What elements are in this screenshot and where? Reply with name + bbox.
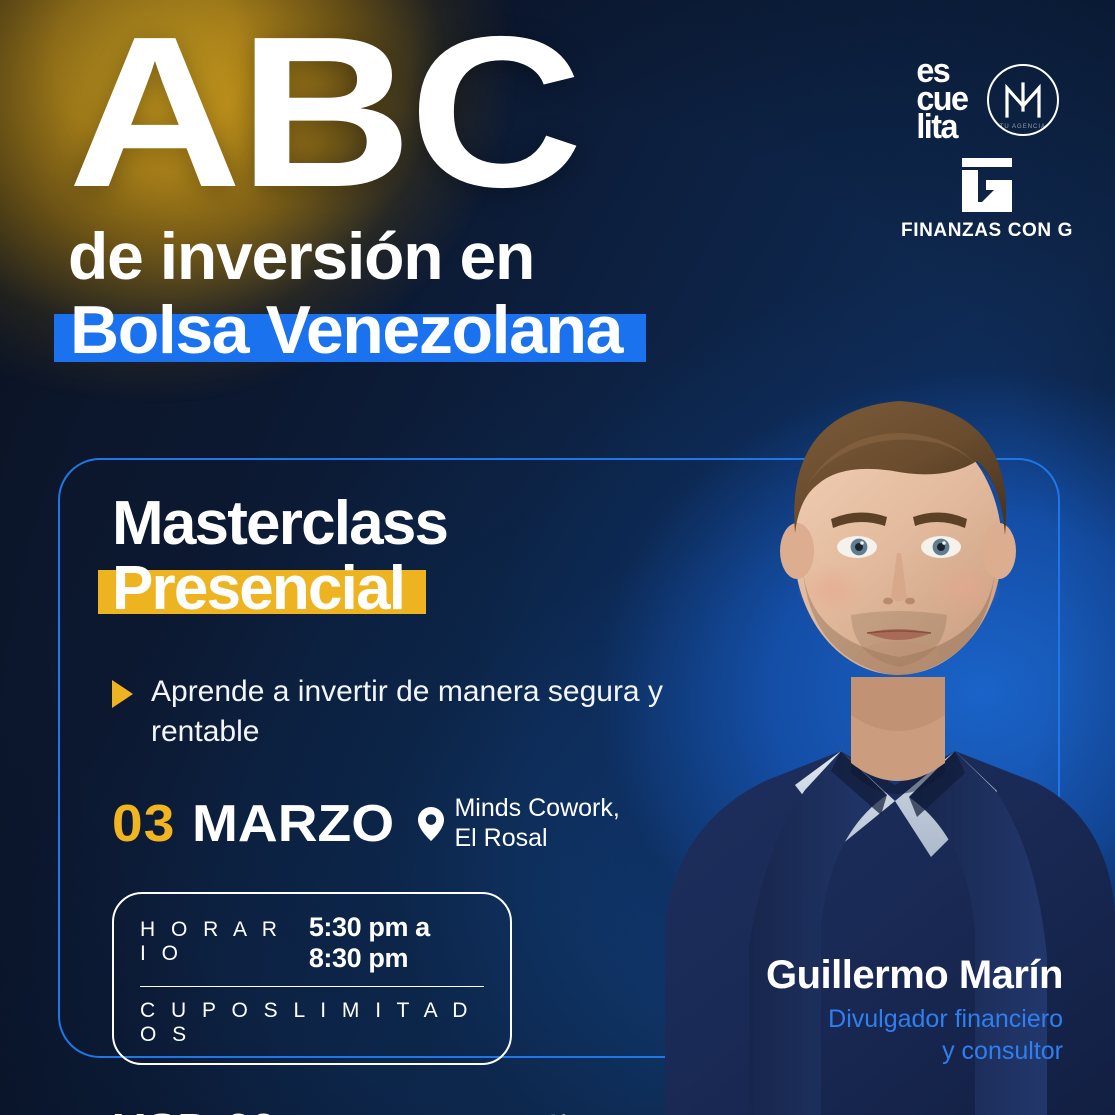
triangle-bullet-icon [112, 680, 133, 708]
finanzas-logo: FINANZAS CON G [901, 156, 1073, 242]
logo-row-top: es cue lita TU AGENCIA [915, 58, 1059, 142]
headline-block: ABC de inversión en Bolsa Venezolana [68, 22, 768, 366]
horario-value: 5:30 pm a 8:30 pm [309, 912, 484, 974]
schedule-row: H O R A R I O 5:30 pm a 8:30 pm [140, 912, 484, 974]
headline-subtitle-2: Bolsa Venezolana [68, 295, 624, 366]
m-circle-micro-text: TU AGENCIA [989, 124, 1057, 130]
event-day: 03 [112, 794, 175, 854]
headline-subtitle-1: de inversión en [68, 223, 768, 289]
m-letter-icon [1003, 80, 1043, 120]
speaker-role-line-2: y consultor [766, 1035, 1063, 1067]
logo-group: es cue lita TU AGENCIA FINANZAS CON G [901, 58, 1073, 242]
location-pin-icon [418, 807, 444, 841]
horario-label: H O R A R I O [140, 918, 291, 966]
speaker-block: Guillermo Marín Divulgador financiero y … [766, 953, 1063, 1067]
escuelita-line-3: lita [916, 114, 967, 142]
headline-subtitle-2-wrap: Bolsa Venezolana [68, 295, 624, 366]
cupos-label: C U P O S L I M I T A D O S [140, 999, 484, 1047]
schedule-box: H O R A R I O 5:30 pm a 8:30 pm C U P O … [112, 892, 512, 1066]
date-row: 03 MARZO Minds Cowork, El Rosal [112, 794, 672, 854]
bullet-text: Aprende a invertir de manera segura y re… [151, 672, 672, 751]
venue-text: Minds Cowork, El Rosal [454, 794, 619, 853]
golive-logo: golive● [494, 1106, 619, 1115]
golive-wordmark: golive [494, 1107, 608, 1115]
price-value: USD 60 [112, 1103, 276, 1115]
venue-line-2: El Rosal [454, 824, 619, 854]
escuelita-logo: es cue lita [916, 58, 967, 142]
venue-line-1: Minds Cowork, [454, 794, 619, 824]
venue-block: Minds Cowork, El Rosal [418, 794, 619, 853]
price-row: USD 60 ENTRADAS EN golive● [112, 1103, 672, 1115]
presencial-title: Presencial [112, 557, 404, 620]
poster-root: ABC de inversión en Bolsa Venezolana es … [0, 0, 1115, 1115]
speaker-name: Guillermo Marín [766, 953, 1063, 997]
g-arrow-icon [956, 156, 1018, 214]
card-content: Masterclass Presencial Aprende a inverti… [112, 492, 672, 1115]
speaker-role: Divulgador financiero y consultor [766, 1003, 1063, 1067]
headline-abc: ABC [68, 22, 852, 203]
tickets-block: ENTRADAS EN golive● [306, 1109, 617, 1115]
masterclass-title: Masterclass [112, 492, 672, 555]
event-month: MARZO [192, 794, 394, 854]
presencial-wrap: Presencial [112, 557, 404, 620]
schedule-divider [140, 986, 484, 988]
bullet-row: Aprende a invertir de manera segura y re… [112, 672, 672, 751]
finanzas-label: FINANZAS CON G [901, 220, 1073, 242]
m-circle-logo: TU AGENCIA [987, 64, 1059, 136]
speaker-role-line-1: Divulgador financiero [766, 1003, 1063, 1035]
